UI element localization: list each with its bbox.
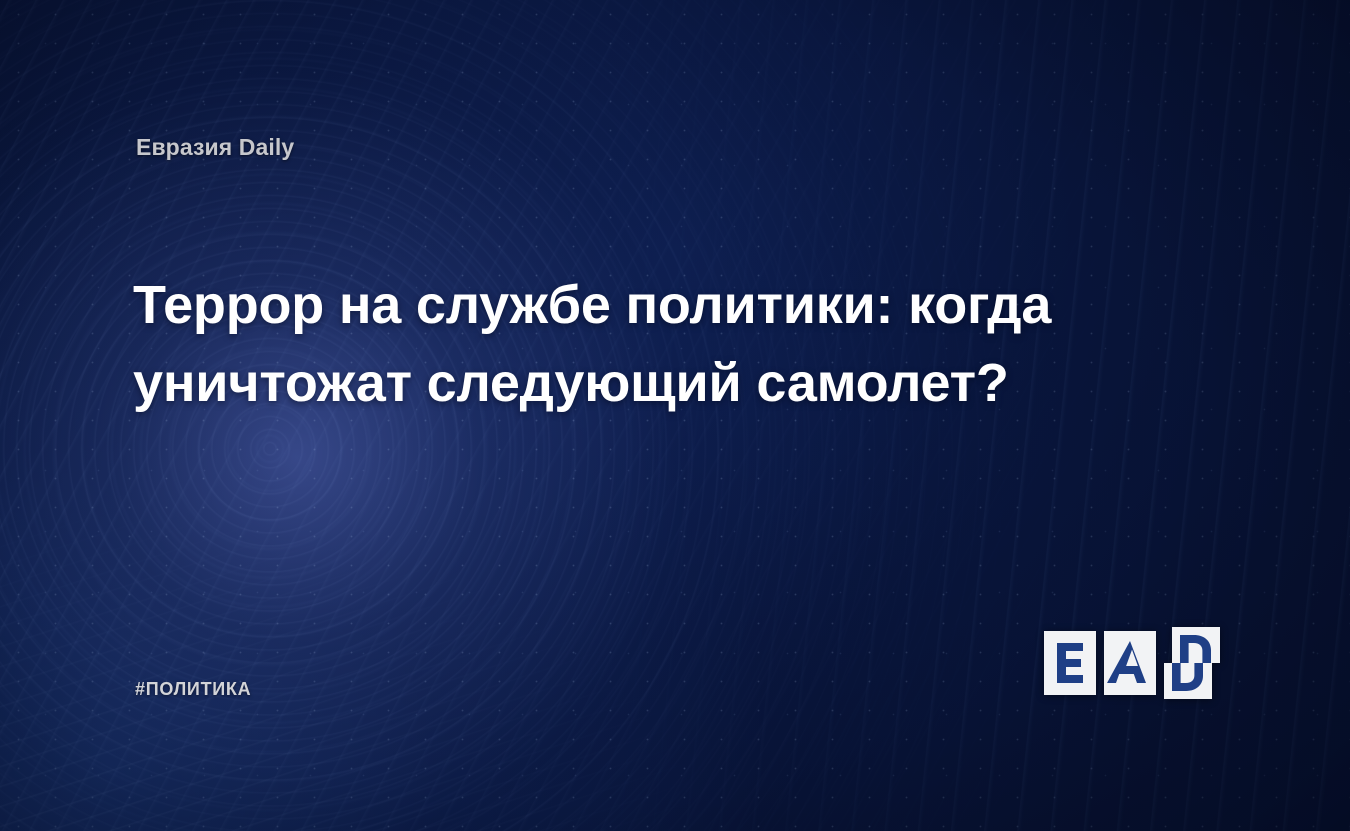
site-name: Евразия Daily bbox=[136, 134, 294, 161]
headline: Террор на службе политики: когда уничтож… bbox=[133, 266, 1093, 422]
share-card: Евразия Daily Террор на службе политики:… bbox=[0, 0, 1350, 831]
hashtag-politika: #ПОЛИТИКА bbox=[135, 679, 251, 700]
ead-logo-tile-e bbox=[1044, 631, 1096, 695]
ead-logo bbox=[1044, 627, 1220, 699]
ead-logo-tile-a bbox=[1104, 631, 1156, 695]
card-content: Евразия Daily Террор на службе политики:… bbox=[0, 0, 1350, 831]
ead-logo-tile-d bbox=[1164, 627, 1220, 699]
